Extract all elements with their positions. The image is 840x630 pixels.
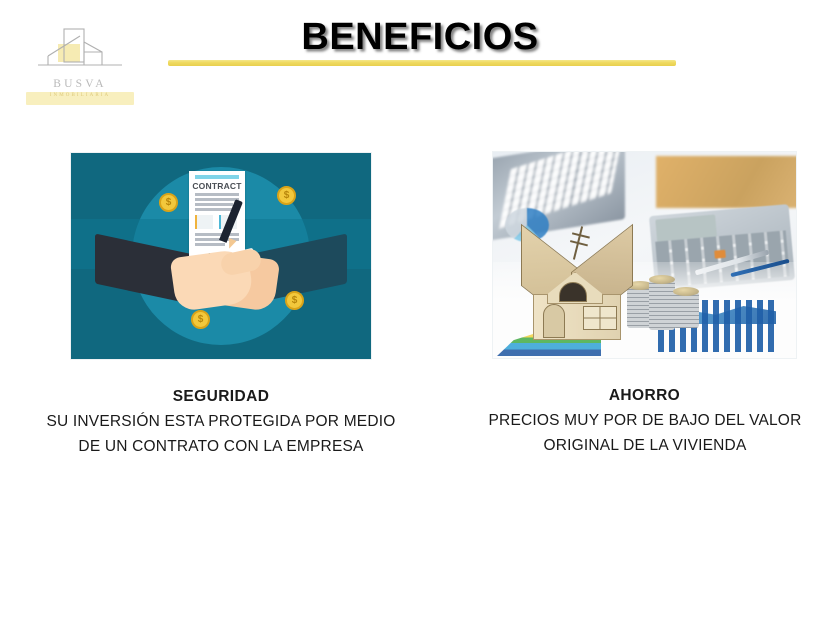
wooden-model-house [525,232,629,340]
coin-stack [673,292,699,328]
logo-tagline: INMOBILIARIA [24,93,136,98]
title-underline-rule [168,60,676,66]
wood-surface [656,156,796,208]
document-header-bar [195,175,239,179]
benefit-card-seguridad: CONTRACT [70,152,372,459]
page-title: BENEFICIOS [0,16,840,59]
model-house-coins-calculator-photo [492,151,797,359]
roof-antenna [573,226,583,259]
dollar-coin-icon: $ [285,291,304,310]
calculator-accent-key [714,250,726,259]
dollar-coin-icon: $ [191,310,210,329]
benefit-card-ahorro: AHORRO PRECIOS MUY POR DE BAJO DEL VALOR… [492,151,797,458]
dollar-coin-icon: $ [159,193,178,212]
coin-stack [649,280,675,330]
caption-body: SU INVERSIÓN ESTA PROTEGIDA POR MEDIO DE… [45,409,397,459]
caption-ahorro: AHORRO PRECIOS MUY POR DE BAJO DEL VALOR… [492,384,797,458]
dollar-coin-icon: $ [277,186,296,205]
slide-canvas: BUSVA INMOBILIARIA BENEFICIOS CONTRACT [0,0,840,630]
document-title: CONTRACT [189,181,245,191]
attic-window [559,282,587,302]
caption-heading: AHORRO [492,384,797,407]
logo-wordmark: BUSVA [24,78,136,90]
house-door [543,304,565,338]
caption-body: PRECIOS MUY POR DE BAJO DEL VALOR ORIGIN… [476,408,814,458]
house-window [583,306,617,330]
caption-heading: SEGURIDAD [70,385,372,408]
handshake-contract-illustration: CONTRACT [70,152,372,360]
caption-seguridad: SEGURIDAD SU INVERSIÓN ESTA PROTEGIDA PO… [70,385,372,459]
